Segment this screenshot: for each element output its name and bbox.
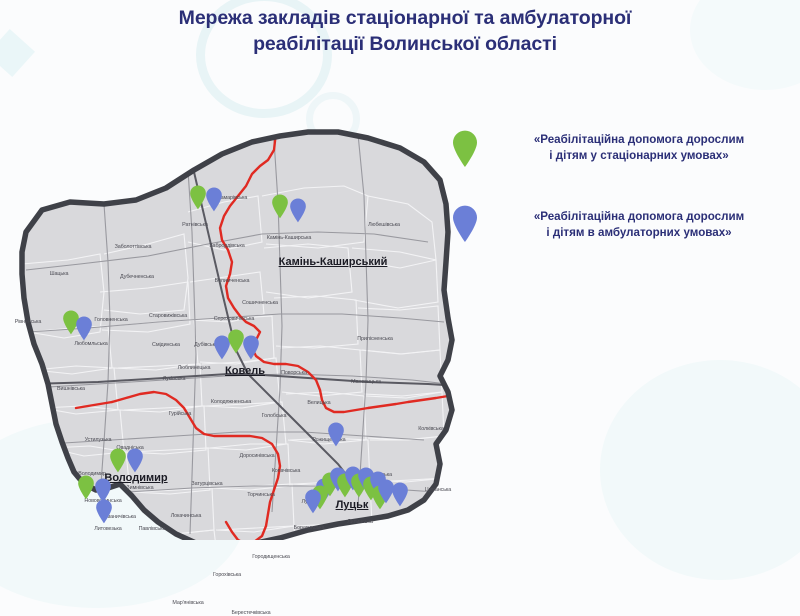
hromada-label: Рівненська [15,319,42,325]
hromada-label: Устилузька [85,437,112,443]
hromada-label: Смідинська [152,342,180,348]
blue-map-pin-icon[interactable] [392,482,409,507]
hromada-label: Заброддівська [209,243,244,249]
hromada-label: Прилісненська [357,336,393,342]
hromada-label: Вишнівська [57,386,85,392]
legend-outpatient-line-1: «Реабілітаційна допомога дорослим [534,210,744,223]
hromada-label: Цуманська [425,487,451,493]
hromada-label: Копачівська [272,468,301,474]
hromada-label: Липинська [347,519,373,525]
page-title: Мережа закладів стаціонарної та амбулато… [140,6,670,58]
hromada-label: Дубечненська [120,274,154,280]
blue-map-pin-icon[interactable] [243,335,260,360]
hromada-label: Люблинецька [178,365,211,371]
hromada-label: Велимченська [215,278,250,284]
hromada-label: Гурійська [169,411,191,417]
hromada-label: Старовижівська [149,313,187,319]
hromada-label: Заболоттівська [115,244,152,250]
hromada-label: Городищенська [252,554,290,560]
hromada-label: Колківська [418,426,444,432]
title-line-1: Мережа закладів стаціонарної та амбулато… [179,7,632,29]
hromada-label: Головненська [94,317,127,323]
hromada-label: Затурцівська [191,481,222,487]
hromada-label: Луківська [163,376,186,382]
hromada-label: Камінь-Каширська [267,235,311,241]
legend-outpatient-line-2: і дітям в амбулаторних умовах» [546,226,731,239]
background-decoration-square [0,29,35,77]
title-line-2: реабілітації Волинської області [140,32,670,58]
infographic-root: Мережа закладів стаціонарної та амбулато… [0,0,800,547]
blue-map-pin-icon[interactable] [206,187,223,212]
hromada-label: Мар'янівська [172,600,203,606]
blue-map-pin-icon [452,199,486,248]
hromada-label: Горохівська [213,572,241,578]
green-map-pin-icon[interactable] [190,185,207,210]
hromada-label: Шацька [50,271,69,277]
hromada-label: Поворська [281,370,307,376]
volyn-oblast-map[interactable]: ШацькаЗаболоттівськаДубечненськаРатнівсь… [8,92,460,540]
hromada-label: Боратинська [294,525,325,531]
city-label: Ковель [225,365,265,377]
blue-map-pin-icon[interactable] [328,422,345,447]
legend-item-inpatient: «Реабілітаційна допомога дорослим і дітя… [452,128,792,173]
blue-map-pin-icon[interactable] [96,499,113,524]
blue-map-pin-icon[interactable] [127,448,144,473]
green-map-pin-icon[interactable] [110,448,127,473]
hromada-label: Колодяжненська [211,399,251,405]
hromada-label: Сереховичівська [214,316,255,322]
hromada-label: Торчинська [247,492,275,498]
blue-map-pin-icon[interactable] [305,489,322,514]
hromada-label: Маневицька [351,379,381,385]
city-label: Камінь-Каширський [279,256,388,268]
hromada-label: Велицька [307,400,330,406]
legend-inpatient-line-2: і дітям у стаціонарних умовах» [549,149,728,162]
hromada-label: Любешівська [368,222,400,228]
hromada-label: Зимнівська [127,485,154,491]
hromada-label: Доросинівська [239,453,274,459]
legend-inpatient-line-1: «Реабілітаційна допомога дорослим [534,133,744,146]
city-label: Володимир [104,472,167,484]
green-map-pin-icon[interactable] [78,475,95,500]
blue-map-pin-icon[interactable] [76,316,93,341]
legend-text-inpatient: «Реабілітаційна допомога дорослим і дітя… [486,128,792,165]
background-decoration-blob-2 [600,360,800,580]
background-decoration-band [690,0,800,90]
blue-map-pin-icon[interactable] [290,198,307,223]
hromada-label: Любомльська [74,341,107,347]
map-legend: «Реабілітаційна допомога дорослим і дітя… [452,128,792,274]
hromada-label: Ратнівська [182,222,208,228]
hromada-label: Павлівська [139,526,166,532]
hromada-label: Локачинська [171,513,202,519]
legend-text-outpatient: «Реабілітаційна допомога дорослим і дітя… [486,199,792,242]
green-map-pin-icon[interactable] [272,194,289,219]
hromada-label: Литовезька [94,526,121,532]
legend-item-outpatient: «Реабілітаційна допомога дорослим і дітя… [452,199,792,248]
hromada-label: Сошичненська [242,300,278,306]
green-map-pin-icon [452,128,486,173]
hromada-label: Голобська [262,413,287,419]
hromada-label: Берестечківська [231,610,270,616]
